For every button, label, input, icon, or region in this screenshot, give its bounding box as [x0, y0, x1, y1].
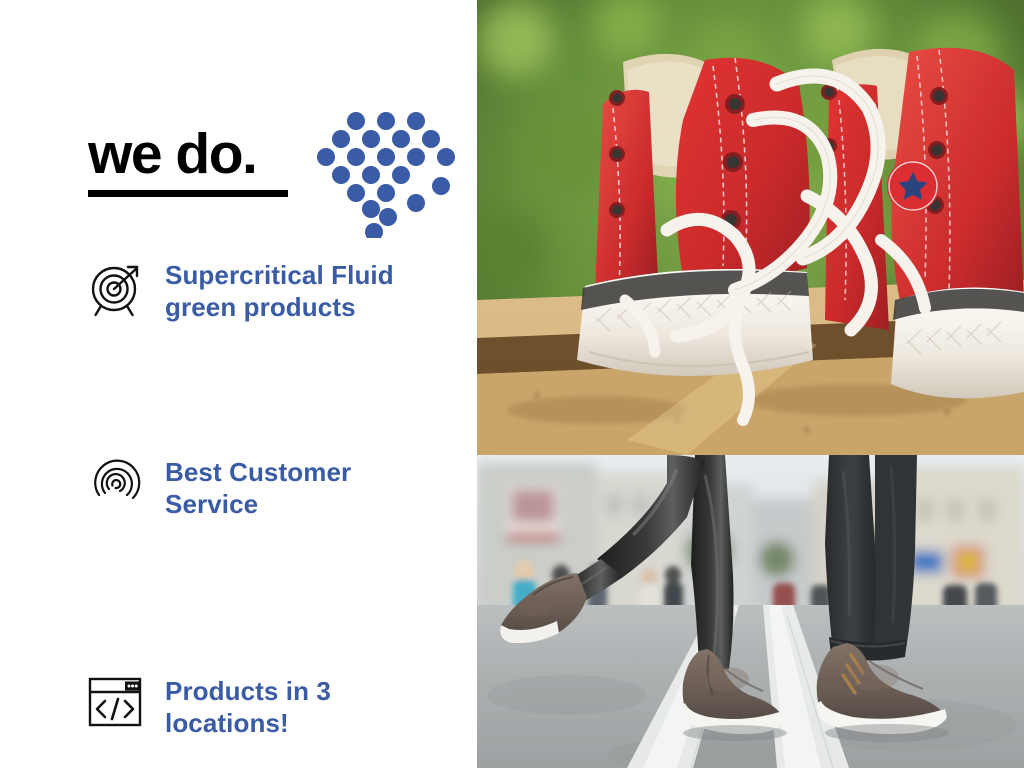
signal-wave-icon — [85, 455, 149, 519]
slide-canvas: we do. — [0, 0, 1024, 768]
title-underline-rule — [88, 190, 288, 197]
red-high-top-sneakers-photo — [477, 0, 1024, 455]
brand-row: we do. — [88, 108, 458, 238]
page-title: we do. — [88, 126, 293, 183]
feature-item-supercritical-fluid: Supercritical Fluid green products — [85, 258, 475, 338]
feature-label: Products in 3 locations! — [165, 676, 465, 739]
feature-label-line2: locations! — [165, 708, 465, 740]
feature-label-line1: Supercritical Fluid — [165, 260, 465, 292]
right-photo-panel — [477, 0, 1024, 768]
street-crosswalk-sneakers-photo — [477, 455, 1024, 768]
feature-item-products-in-3-locations: Products in 3 locations! — [85, 670, 475, 750]
dot-grid-arrow-logo-icon — [316, 108, 461, 238]
feature-label-line1: Best Customer — [165, 457, 465, 489]
left-content-panel: we do. — [0, 0, 477, 768]
feature-item-best-customer-service: Best Customer Service — [85, 455, 475, 535]
target-arrow-icon — [85, 258, 149, 322]
brand-title-block: we do. — [88, 126, 293, 197]
feature-label-line2: Service — [165, 489, 465, 521]
feature-label: Supercritical Fluid green products — [165, 260, 465, 323]
browser-code-icon — [85, 670, 149, 734]
feature-label: Best Customer Service — [165, 457, 465, 520]
feature-label-line2: green products — [165, 292, 465, 324]
feature-label-line1: Products in 3 — [165, 676, 465, 708]
